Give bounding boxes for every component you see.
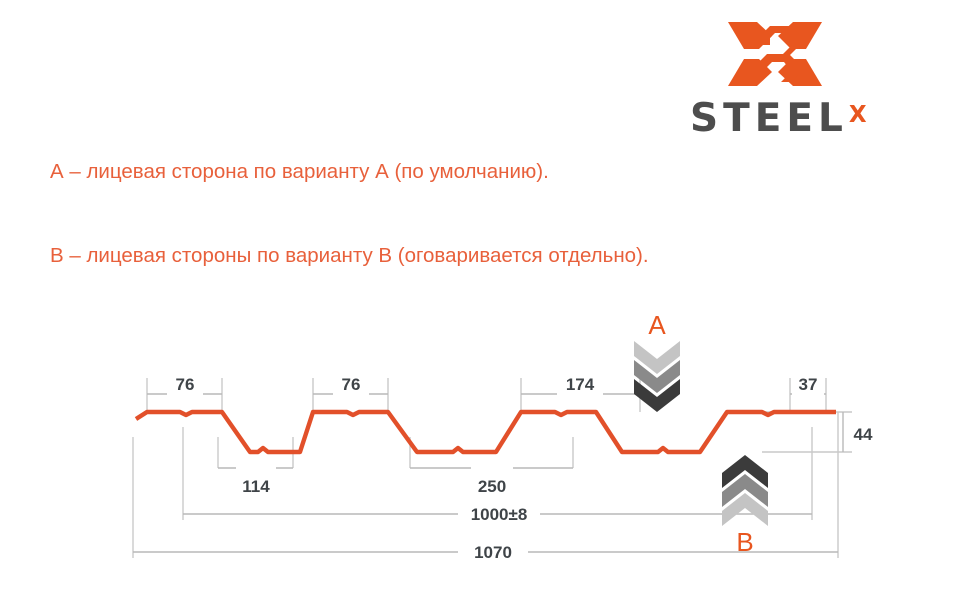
dim-label-1000: 1000±8 xyxy=(471,505,528,524)
corrugated-profile-path xyxy=(136,412,836,452)
dim-label-44: 44 xyxy=(854,425,873,444)
marker-a-letter: А xyxy=(648,310,666,340)
dim-label-37: 37 xyxy=(799,375,818,394)
dim-label-1070: 1070 xyxy=(474,543,512,562)
marker-a-chevron-down-icon xyxy=(634,341,680,412)
dim-label-250: 250 xyxy=(478,477,506,496)
dimension-label-masks xyxy=(167,382,883,564)
dim-label-76-mid: 76 xyxy=(342,375,361,394)
marker-b-letter: В xyxy=(736,527,753,557)
dim-label-114: 114 xyxy=(242,477,270,496)
marker-a: А xyxy=(634,310,680,412)
dim-label-174: 174 xyxy=(566,375,595,394)
dim-label-76-left: 76 xyxy=(176,375,195,394)
profile-technical-drawing: 76 76 174 37 114 250 1000±8 1070 44 А В xyxy=(0,0,970,597)
marker-b: В xyxy=(722,455,768,557)
marker-b-chevron-up-icon xyxy=(722,455,768,526)
